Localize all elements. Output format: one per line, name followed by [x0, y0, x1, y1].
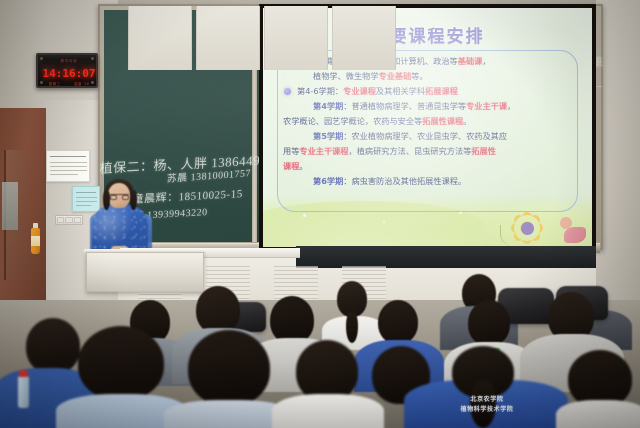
water-bottle-1[interactable]	[18, 376, 29, 408]
slide-dot-2	[383, 221, 385, 223]
student-front-head-a	[26, 318, 80, 374]
slide-text-segment: 拓展性课程	[422, 116, 463, 126]
slide-text-segment: ，	[507, 101, 515, 111]
wall-notice-primary[interactable]	[46, 150, 90, 182]
slide-line: 第4-6学期：专业课程及其相关学科拓展课程	[281, 84, 575, 99]
sunflower-center	[521, 222, 534, 235]
slide-text-segment: 拓展课程	[425, 86, 458, 96]
slide-text-segment: 等。	[411, 71, 427, 81]
slide-line: 课程。	[281, 159, 575, 174]
eyeglass-lens-right	[122, 195, 129, 200]
slide-line: 第4学期：普通植物病理学、普通昆虫学等专业主干课，	[281, 99, 575, 114]
light-switch-key-2[interactable]	[65, 217, 72, 223]
clock-banner-text: 教学时钟	[61, 59, 78, 64]
lecture-podium	[86, 252, 204, 292]
clock-secondary-display: 星期三 温度 26	[42, 81, 96, 87]
slide-body: 第1-3学期：数理化、英语和计算机、政治等基础课，植物学、微生物学专业基础等。第…	[281, 54, 575, 189]
clock-time-display: 14:16:07	[42, 66, 96, 80]
desk-panel-4	[332, 6, 396, 70]
front-monitor-strip	[296, 246, 596, 268]
student-row2-head-b	[196, 286, 240, 334]
light-switch-key-3[interactable]	[74, 217, 81, 223]
slide-line: 第5学期：农业植物病理学、农业昆虫学、农药及其应	[281, 129, 575, 144]
slide-text-segment: 第4-6学期：	[297, 86, 343, 96]
slide-text-segment: 专业主干课	[466, 101, 507, 111]
slide-line: 第6学期：病虫害防治及其他拓展性课程。	[281, 174, 575, 189]
student-front-shoulders-f	[556, 400, 640, 428]
slide-bullet-icon	[284, 88, 291, 95]
wall-notice-secondary[interactable]	[72, 186, 100, 212]
slide-text-segment: ：普通植物病理学、普通昆虫学等	[343, 101, 466, 111]
student-row2-head-e	[468, 300, 510, 346]
slide-text-segment: 专业课程	[343, 86, 376, 96]
slide-text-segment: 农学概论、园艺学概论，农药与安全等	[283, 116, 422, 126]
slide-text-segment: ：病虫害防治及其他拓展性课程。	[343, 176, 466, 186]
classroom-scene: 植保二：杨、人胖 1386449936 苏晨 13810001757 值－童晨辉…	[0, 0, 640, 428]
slide-line: 用等专业主干课程，植病研究方法、昆虫研究方法等拓展性	[281, 144, 575, 159]
slide-text-segment: 基础课	[458, 56, 483, 66]
student-jersey-ponytail	[470, 380, 496, 428]
juice-bottle-label	[31, 236, 40, 246]
light-switch-plate[interactable]	[55, 215, 83, 225]
instructor-hair-left	[103, 190, 110, 210]
slide-text-segment: 专业主干课程	[299, 146, 348, 156]
light-switch-key-1[interactable]	[57, 217, 64, 223]
clock-temp: 温度 26	[74, 82, 89, 87]
slide-line: 农学概论、园艺学概论，农药与安全等拓展性课程。	[281, 114, 575, 129]
jersey-text-line-1: 北京农学院	[424, 396, 550, 404]
clock-weekday: 星期三	[49, 82, 61, 87]
slide-text-segment: 第5学期	[313, 131, 343, 141]
slide-dot-1	[303, 214, 306, 217]
student-front-head-b	[78, 326, 164, 400]
slide-text-segment: 植物学、微生物学	[313, 71, 379, 81]
desk-panel-1	[128, 6, 192, 70]
led-clock: 教学时钟 14:16:07 星期三 温度 26	[36, 53, 98, 88]
student-front-shoulders-d	[272, 394, 384, 428]
slide-text-segment: 第4学期	[313, 101, 343, 111]
water-bottle-cap-1	[19, 370, 28, 377]
door-window	[2, 182, 18, 230]
eyeglass-lens-left	[110, 195, 117, 200]
slide-text-segment: 专业基础	[379, 71, 412, 81]
slide-text-segment: ：农业植物病理学、农业昆虫学、农药及其应	[343, 131, 507, 141]
slide-text-segment: 用等	[283, 146, 299, 156]
eyeglasses-icon	[110, 194, 129, 199]
pink-petal-icon	[564, 227, 586, 243]
slide-text-segment: 课程	[283, 161, 299, 171]
student-front-head-d	[296, 340, 358, 402]
slide-text-segment: 及其相关学科	[376, 86, 425, 96]
student-row2-head-d	[378, 300, 418, 344]
student-row1-ponytail-a	[346, 311, 358, 343]
desk-panel-2	[196, 6, 260, 70]
clock-banner: 教学时钟	[42, 58, 96, 64]
slide-text-segment: ，	[482, 56, 490, 66]
desk-panel-3	[264, 6, 328, 70]
slide-text-segment: 拓展性	[471, 146, 496, 156]
slide-text-segment: 第6学期	[313, 176, 343, 186]
student-row2-head-c	[270, 296, 314, 344]
slide-text-segment: 。	[299, 161, 307, 171]
jersey-text-line-2: 植物科学技术学院	[416, 406, 558, 414]
instructor-hair-right	[130, 190, 137, 210]
slide-text-segment: ，植病研究方法、昆虫研究方法等	[349, 146, 472, 156]
student-front-head-c	[188, 330, 270, 406]
slide-line: 植物学、微生物学专业基础等。	[281, 69, 575, 84]
slide-text-segment: 。	[463, 116, 471, 126]
